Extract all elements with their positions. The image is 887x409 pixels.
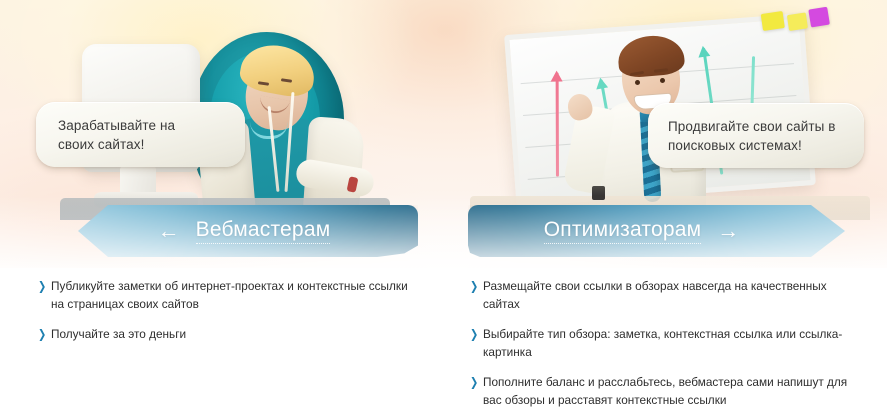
speech-bubble-webmasters: Зарабатывайте на своих сайтах! xyxy=(36,102,245,167)
optimizer-eye-shape xyxy=(660,78,665,83)
list-item-text: Получайте за это деньги xyxy=(51,326,186,344)
speech-bubble-text: Зарабатывайте на своих сайтах! xyxy=(58,116,175,154)
chevron-right-icon: ❯ xyxy=(38,278,49,295)
list-item: ❯ Получайте за это деньги xyxy=(38,326,413,344)
chevron-right-icon: ❯ xyxy=(38,326,49,343)
chevron-right-icon: ❯ xyxy=(470,326,481,343)
sticky-note-shape xyxy=(761,11,785,31)
list-item: ❯ Размещайте свои ссылки в обзорах навсе… xyxy=(470,278,855,313)
hero-bottom-fade xyxy=(0,196,887,276)
feature-list-webmasters: ❯ Публикуйте заметки об интернет-проекта… xyxy=(38,278,413,357)
sticky-note-shape xyxy=(787,12,808,31)
list-item-text: Размещайте свои ссылки в обзорах навсегд… xyxy=(483,278,855,313)
list-item: ❯ Публикуйте заметки об интернет-проекта… xyxy=(38,278,413,313)
list-item-text: Публикуйте заметки об интернет-проектах … xyxy=(51,278,413,313)
list-item-text: Пополните баланс и расслабьтесь, вебмаст… xyxy=(483,374,855,409)
promo-banner: Зарабатывайте на своих сайтах! ← Вебмаст… xyxy=(0,0,887,409)
chevron-right-icon: ❯ xyxy=(470,278,481,295)
list-item-text: Выбирайте тип обзора: заметка, контекстн… xyxy=(483,326,855,361)
growth-arrow-icon xyxy=(556,73,559,177)
list-item: ❯ Пополните баланс и расслабьтесь, вебма… xyxy=(470,374,855,409)
sticky-note-shape xyxy=(808,7,830,28)
optimizer-eye-shape xyxy=(635,80,640,85)
list-item: ❯ Выбирайте тип обзора: заметка, контекс… xyxy=(470,326,855,361)
feature-list-optimizers: ❯ Размещайте свои ссылки в обзорах навсе… xyxy=(470,278,855,409)
chevron-right-icon: ❯ xyxy=(470,374,481,391)
speech-bubble-optimizers: Продвигайте свои сайты в поисковых систе… xyxy=(648,103,864,168)
speech-bubble-text: Продвигайте свои сайты в поисковых систе… xyxy=(668,117,836,155)
